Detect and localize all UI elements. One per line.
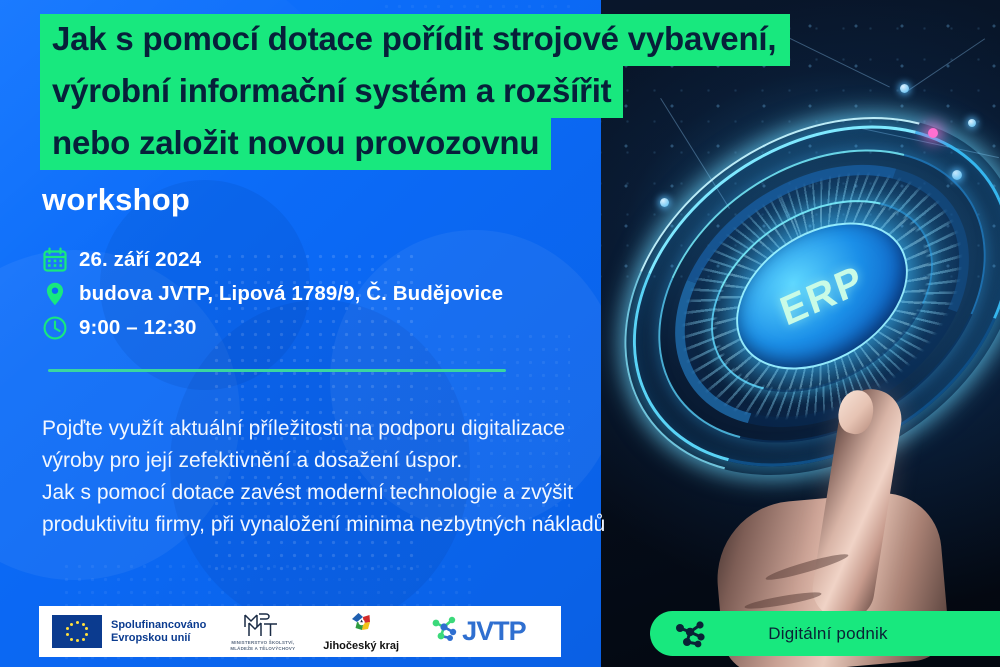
event-date-row: 26. září 2024 [42, 244, 503, 276]
body-line-4: produktivitu firmy, při vynaložení minim… [42, 509, 605, 541]
erp-label: ERP [775, 257, 870, 336]
digitalni-podnik-label: Digitální podnik [710, 624, 1000, 644]
event-location-row: budova JVTP, Lipová 1789/9, Č. Budějovic… [42, 278, 503, 310]
jvtp-logo: JVTP [429, 614, 526, 649]
eu-logo: Spolufinancováno Evropskou unií [39, 615, 206, 648]
poster-subtitle: workshop [42, 182, 190, 218]
event-location: budova JVTP, Lipová 1789/9, Č. Budějovic… [79, 282, 503, 306]
eu-flag-icon [52, 615, 102, 648]
poster-body-text: Pojďte využít aktuální příležitosti na p… [42, 413, 605, 541]
body-line-3: Jak s pomocí dotace zavést moderní techn… [42, 477, 605, 509]
jvtp-molecule-icon [429, 614, 461, 649]
digitalni-podnik-badge[interactable]: Digitální podnik [650, 611, 1000, 656]
section-divider [48, 369, 506, 372]
jihocesky-kraj-icon [349, 612, 373, 639]
location-pin-icon [42, 281, 68, 307]
title-line-1: Jak s pomocí dotace pořídit strojové vyb… [40, 14, 790, 66]
event-time-row: 9:00 – 12:30 [42, 312, 503, 344]
msmt-logo-text: MINISTERSTVO ŠKOLSTVÍ, MLÁDEŽE A TĚLOVÝC… [230, 640, 295, 651]
jihocesky-kraj-label: Jihočeský kraj [323, 640, 399, 652]
eu-logo-line-2: Evropskou unií [111, 632, 206, 645]
sponsor-logo-bar: Spolufinancováno Evropskou unií MINISTER… [39, 606, 561, 657]
eu-logo-line-1: Spolufinancováno [111, 619, 206, 632]
jvtp-label: JVTP [462, 616, 526, 647]
eu-logo-text: Spolufinancováno Evropskou unií [111, 619, 206, 645]
title-line-2: výrobní informační systém a rozšířit [40, 66, 623, 118]
body-line-2: výroby pro její zefektivnění a dosažení … [42, 445, 605, 477]
body-line-1: Pojďte využít aktuální příležitosti na p… [42, 413, 605, 445]
dial-accent-dot [928, 128, 938, 138]
molecule-icon [672, 619, 710, 649]
poster: ERP Jak s pomocí dotace pořídit strojové… [0, 0, 1000, 667]
eu-stars [52, 615, 102, 648]
event-time: 9:00 – 12:30 [79, 316, 196, 340]
msmt-logo: MINISTERSTVO ŠKOLSTVÍ, MLÁDEŽE A TĚLOVÝC… [230, 611, 295, 651]
calendar-icon [42, 247, 68, 273]
clock-icon [42, 315, 68, 341]
event-meta-list: 26. září 2024 budova JVTP, Lipová 1789/9… [42, 244, 503, 346]
msmt-monogram-icon [235, 611, 291, 639]
event-date: 26. září 2024 [79, 248, 201, 272]
jihocesky-kraj-logo: Jihočeský kraj [323, 612, 399, 652]
poster-title: Jak s pomocí dotace pořídit strojové vyb… [40, 14, 790, 170]
title-line-3: nebo založit novou provozovnu [40, 118, 551, 170]
msmt-logo-line-2: MLÁDEŽE A TĚLOVÝCHOVY [230, 646, 295, 652]
